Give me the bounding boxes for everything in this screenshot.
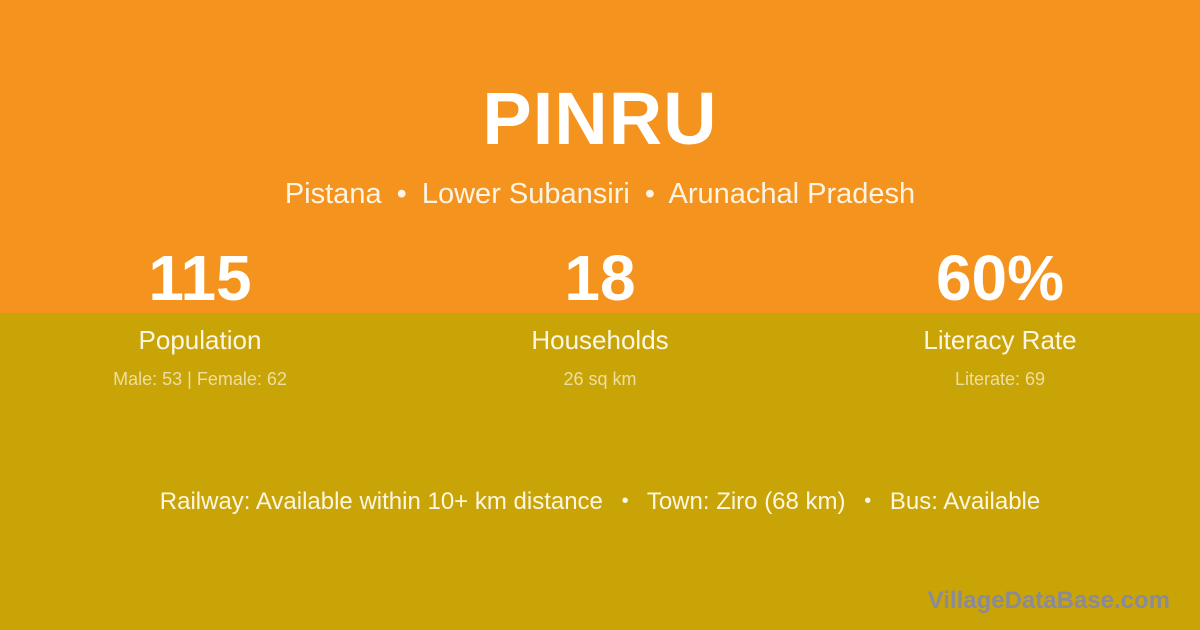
breadcrumb-separator-icon: • (638, 180, 662, 209)
page-title: PINRU (0, 82, 1200, 156)
breadcrumb-separator-icon: • (390, 180, 414, 209)
breadcrumb-district: Lower Subansiri (422, 178, 630, 210)
railway-info: Railway: Available within 10+ km distanc… (160, 488, 603, 515)
stat-subtext: 26 sq km (400, 368, 800, 390)
info-separator-icon: • (852, 486, 883, 516)
nearest-town-info: Town: Ziro (68 km) (647, 488, 846, 515)
stat-label: Literacy Rate (800, 325, 1200, 355)
site-brand-watermark: VillageDataBase.com (928, 586, 1170, 616)
card-header: PINRU Pistana • Lower Subansiri • Arunac… (0, 0, 1200, 209)
stat-label: Population (0, 325, 400, 355)
breadcrumb-state: Arunachal Pradesh (669, 178, 916, 210)
stats-row: 115 Population Male: 53 | Female: 62 18 … (0, 243, 1200, 390)
breadcrumb-block: Pistana (285, 178, 382, 210)
stat-population: 115 Population Male: 53 | Female: 62 (0, 243, 400, 390)
stat-literacy-rate: 60% Literacy Rate Literate: 69 (800, 243, 1200, 390)
stat-households: 18 Households 26 sq km (400, 243, 800, 390)
village-info-card: PINRU Pistana • Lower Subansiri • Arunac… (0, 0, 1200, 630)
stat-subtext: Male: 53 | Female: 62 (0, 368, 400, 390)
stat-value: 60% (800, 243, 1200, 313)
connectivity-info-line: Railway: Available within 10+ km distanc… (0, 486, 1200, 517)
stat-value: 18 (400, 243, 800, 313)
stat-value: 115 (0, 243, 400, 313)
breadcrumb: Pistana • Lower Subansiri • Arunachal Pr… (0, 180, 1200, 209)
bus-info: Bus: Available (890, 488, 1040, 515)
stat-subtext: Literate: 69 (800, 368, 1200, 390)
stat-label: Households (400, 325, 800, 355)
info-separator-icon: • (610, 486, 641, 516)
